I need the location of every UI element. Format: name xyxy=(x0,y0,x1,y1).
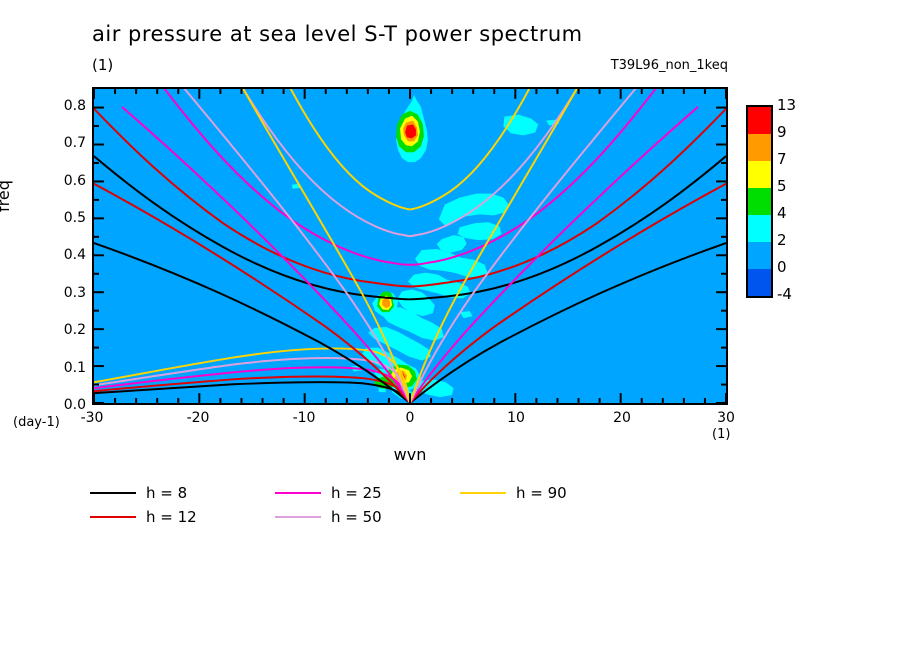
colorbar-tick-13: 13 xyxy=(777,96,796,114)
legend: h = 8 h = 12 h = 25 h = 50 h = 90 xyxy=(90,484,730,532)
legend-swatch-h8 xyxy=(90,492,136,494)
y-tick-1: 0.1 xyxy=(64,360,86,376)
legend-item-h25: h = 25 xyxy=(275,484,382,502)
x-tick-4: 10 xyxy=(507,410,525,426)
colorbar-tick-2: 2 xyxy=(777,231,787,249)
y-tick-7: 0.7 xyxy=(64,135,86,151)
y-tick-6: 0.6 xyxy=(64,173,86,189)
legend-item-h90: h = 90 xyxy=(460,484,567,502)
legend-swatch-h12 xyxy=(90,516,136,518)
legend-label-h25: h = 25 xyxy=(331,484,382,502)
colorbar-tick-m4: -4 xyxy=(777,285,792,303)
colorbar-band-0 xyxy=(748,269,771,296)
x-tick-2: -10 xyxy=(293,410,316,426)
y-tick-4: 0.4 xyxy=(64,247,86,263)
colorbar-band-5 xyxy=(748,188,771,215)
y-tick-2: 0.2 xyxy=(64,322,86,338)
colorbar-tick-labels: 13 9 7 5 4 2 0 -4 xyxy=(777,105,837,294)
legend-label-h12: h = 12 xyxy=(146,508,197,526)
page-title: air pressure at sea level S-T power spec… xyxy=(92,22,583,46)
legend-swatch-h90 xyxy=(460,492,506,494)
x-axis-tick-labels: -30 -20 -10 0 10 20 30 xyxy=(92,408,728,432)
legend-swatch-h25 xyxy=(275,492,321,494)
figure-canvas: air pressure at sea level S-T power spec… xyxy=(0,0,904,654)
run-identifier-label: T39L96_non_1keq xyxy=(611,58,728,73)
legend-item-h8: h = 8 xyxy=(90,484,187,502)
legend-item-h50: h = 50 xyxy=(275,508,382,526)
y-axis-tick-labels: 0.0 0.1 0.2 0.3 0.4 0.5 0.6 0.7 0.8 xyxy=(36,87,86,405)
y-tick-8: 0.8 xyxy=(64,98,86,114)
legend-item-h12: h = 12 xyxy=(90,508,197,526)
y-axis-title: freq xyxy=(0,180,13,212)
colorbar-tick-4: 4 xyxy=(777,204,787,222)
colorbar-band-13 xyxy=(748,107,771,134)
colorbar-band-7 xyxy=(748,161,771,188)
colorbar-tick-0: 0 xyxy=(777,258,787,276)
colorbar-tick-9: 9 xyxy=(777,123,787,141)
y-tick-5: 0.5 xyxy=(64,210,86,226)
legend-label-h50: h = 50 xyxy=(331,508,382,526)
colorbar-band-9 xyxy=(748,134,771,161)
legend-label-h8: h = 8 xyxy=(146,484,187,502)
x-tick-0: -30 xyxy=(81,410,104,426)
contour-plot-svg xyxy=(94,89,726,403)
x-axis-unit-label: (1) xyxy=(712,427,730,442)
legend-label-h90: h = 90 xyxy=(516,484,567,502)
x-tick-3: 0 xyxy=(406,410,415,426)
colorbar-tick-5: 5 xyxy=(777,177,787,195)
y-tick-3: 0.3 xyxy=(64,285,86,301)
colorbar xyxy=(746,105,773,298)
plot-area xyxy=(92,87,728,405)
x-tick-6: 30 xyxy=(717,410,735,426)
colorbar-band-2 xyxy=(748,242,771,269)
x-axis-title: wvn xyxy=(0,445,820,464)
colorbar-tick-7: 7 xyxy=(777,150,787,168)
x-tick-1: -20 xyxy=(187,410,210,426)
legend-swatch-h50 xyxy=(275,516,321,518)
title-unit-label: (1) xyxy=(92,56,113,74)
y-axis-unit-label: (day-1) xyxy=(13,415,60,430)
colorbar-band-4 xyxy=(748,215,771,242)
x-tick-5: 20 xyxy=(613,410,631,426)
